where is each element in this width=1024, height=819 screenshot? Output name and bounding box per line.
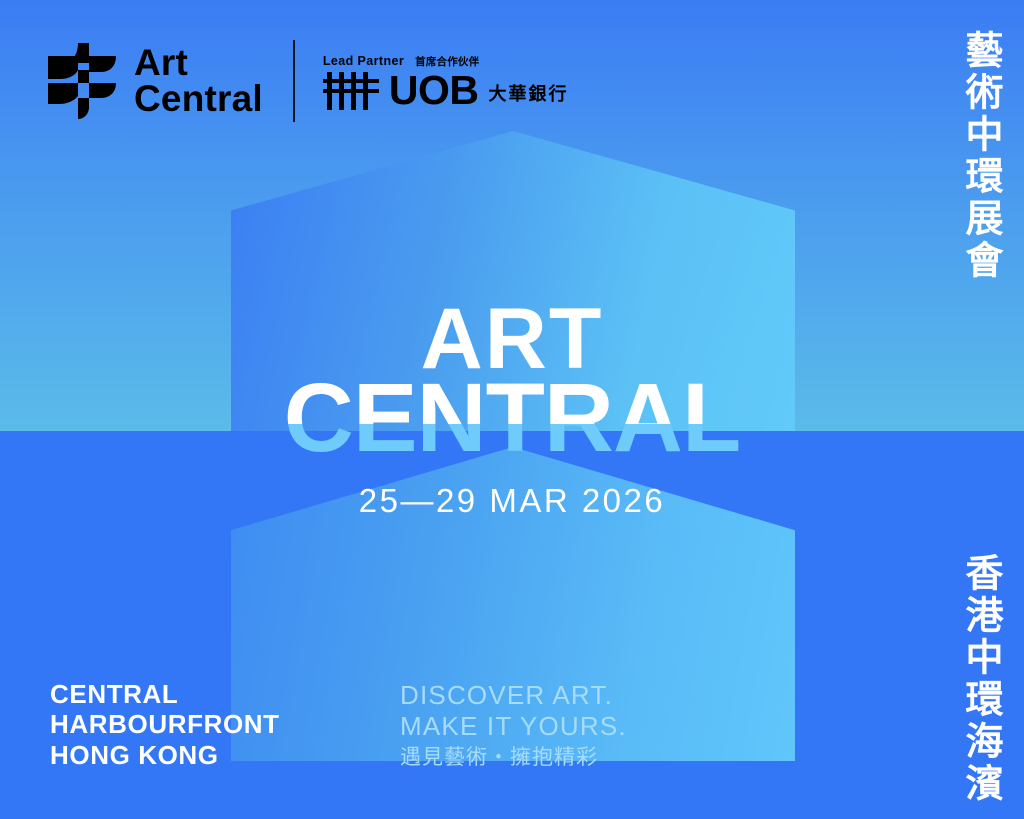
main-title: ART CENTRAL CENTRAL <box>0 300 1024 461</box>
tagline-line-cn: 遇見藝術・擁抱精彩 <box>400 745 627 770</box>
header-divider <box>293 40 295 122</box>
brand-line-1: Art <box>134 45 263 81</box>
header: Art Central Lead Partner 首席合作伙伴 UOB 大華銀行 <box>48 36 569 126</box>
venue-line-1: CENTRAL <box>50 679 280 709</box>
side-text-bottom-cn: 香港中環海濱 <box>960 553 1000 805</box>
venue-line-3: HONG KONG <box>50 740 280 770</box>
uob-logo-row: UOB 大華銀行 <box>323 72 569 110</box>
uob-name-cn: 大華銀行 <box>489 80 569 110</box>
tagline-line-2: MAKE IT YOURS. <box>400 711 627 742</box>
side-text-top-cn: 藝術中環展會 <box>960 30 1000 282</box>
art-central-mark-icon <box>48 43 116 119</box>
venue-line-2: HARBOURFRONT <box>50 709 280 739</box>
lead-partner-block: Lead Partner 首席合作伙伴 UOB 大華銀行 <box>323 52 569 110</box>
tagline-line-1: DISCOVER ART. <box>400 680 627 711</box>
title-line-central: CENTRAL CENTRAL <box>0 373 1024 461</box>
venue-block: CENTRAL HARBOURFRONT HONG KONG <box>50 679 280 770</box>
brand-wordmark: Art Central <box>134 45 263 118</box>
event-dates: 25—29 MAR 2026 <box>0 482 1024 520</box>
uob-hatch-mark-icon <box>323 72 379 110</box>
brand-line-2: Central <box>134 81 263 117</box>
lead-partner-label: Lead Partner <box>323 54 404 68</box>
title-line-art: ART <box>0 300 1024 379</box>
tagline-block: DISCOVER ART. MAKE IT YOURS. 遇見藝術・擁抱精彩 <box>400 680 627 771</box>
art-central-poster: Art Central Lead Partner 首席合作伙伴 UOB 大華銀行 <box>0 0 1024 819</box>
uob-wordmark: UOB <box>389 72 479 110</box>
